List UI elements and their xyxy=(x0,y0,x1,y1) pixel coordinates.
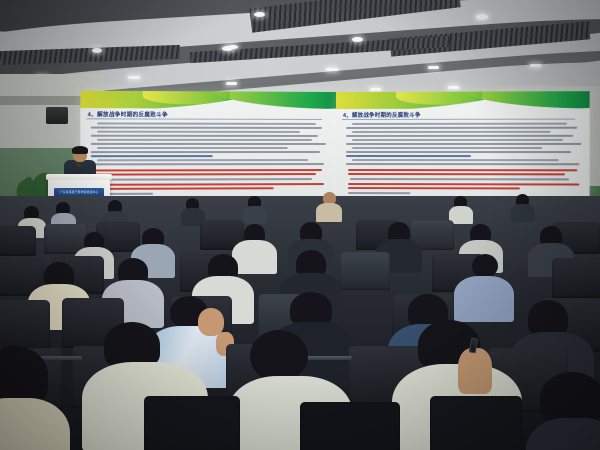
slide-left-body-line xyxy=(97,159,308,161)
slide-left-body-line xyxy=(91,135,318,137)
attendee-torso xyxy=(243,206,267,224)
downlight-14 xyxy=(448,86,459,89)
slide-right-body-line xyxy=(346,135,573,137)
auditorium-seat[interactable] xyxy=(144,396,240,450)
slide-right-body-line xyxy=(346,143,581,145)
slide-left-highlight-line xyxy=(93,169,322,171)
attendee-torso xyxy=(511,204,535,222)
presenter-hair xyxy=(72,146,88,154)
slide-right-highlight-line xyxy=(348,169,577,171)
slide-left-body-line xyxy=(97,147,288,149)
slide-left-highlight-line xyxy=(93,173,316,176)
slide-left-body-line xyxy=(91,143,326,145)
downlight-11 xyxy=(128,76,140,79)
slide-right-body-line xyxy=(346,151,571,153)
downlight-12 xyxy=(226,82,237,85)
attendee-hair-bun xyxy=(250,330,308,382)
slide-left-highlight-line xyxy=(93,187,274,190)
downlight-1 xyxy=(254,12,265,17)
attendee-hair xyxy=(528,300,568,336)
auditorium-seat[interactable] xyxy=(430,396,522,450)
attendee-torso xyxy=(316,203,342,222)
downlight-6 xyxy=(326,68,338,71)
downlight-3 xyxy=(352,37,363,42)
projected-slide-right: 4、解放战争时期的反腐败斗争 xyxy=(336,91,590,205)
slide-right-highlight-line xyxy=(348,173,565,175)
attendee-torso xyxy=(232,240,277,274)
slide-left-body-line xyxy=(91,127,322,129)
auditorium-seat[interactable] xyxy=(340,252,390,290)
downlight-9 xyxy=(228,45,238,49)
slide-right-title-rule xyxy=(342,119,575,120)
slide-left-title: 4、解放战争时期的反腐败斗争 xyxy=(88,110,168,118)
downlight-2 xyxy=(476,14,488,20)
slide-left-body-line xyxy=(95,178,312,180)
seat-armrest xyxy=(40,356,82,360)
seat-armrest xyxy=(306,356,352,360)
slide-left-highlight-line xyxy=(93,183,324,186)
auditorium-seat[interactable] xyxy=(0,300,50,350)
slide-left-body-line xyxy=(97,122,316,124)
slide-left-title-rule xyxy=(87,118,322,120)
audience-seating: ROCK MUSIC AND CATS all i need are frien… xyxy=(0,196,600,450)
auditorium-seat[interactable] xyxy=(0,226,36,256)
wall-speaker xyxy=(46,107,68,124)
downlight-5 xyxy=(92,48,102,53)
auditorium-seat[interactable] xyxy=(552,258,600,298)
attendee-torso xyxy=(454,276,514,322)
slide-right-body-line xyxy=(352,123,567,125)
downlight-8 xyxy=(530,64,541,67)
attendee-hair-bun xyxy=(472,254,498,278)
slide-right-highlight-line xyxy=(348,183,579,185)
attendee-arm xyxy=(458,348,492,394)
slide-banner-left xyxy=(80,91,336,109)
slide-right-body-line xyxy=(350,178,569,180)
slide-right-title: 4、解放战争时期的反腐败斗争 xyxy=(343,111,421,119)
slide-right-body-line xyxy=(346,163,579,165)
slide-left-body-line xyxy=(91,151,320,153)
slide-right-highlight-line xyxy=(348,187,520,189)
slide-left-body-line xyxy=(91,155,213,157)
slide-right-body-line xyxy=(352,139,563,141)
slide-right-body-line xyxy=(346,127,577,129)
projection-screen-pair: 4、解放战争时期的反腐败斗争 xyxy=(86,92,586,204)
downlight-7 xyxy=(428,66,439,69)
lecture-hall-photo: 4、解放战争时期的反腐败斗争 xyxy=(0,0,600,450)
attendee-torso xyxy=(526,418,600,450)
slide-left-body-line xyxy=(97,131,300,133)
slide-left-body-line xyxy=(97,139,312,141)
slide-right-body-line xyxy=(352,131,551,133)
podium-top xyxy=(46,174,112,180)
slide-right-body-line xyxy=(352,147,542,149)
slide-left-body-line xyxy=(91,163,324,165)
microphone-icon xyxy=(78,165,80,173)
slide-right-body-line xyxy=(346,155,471,157)
slide-right-body-line xyxy=(348,192,410,194)
attendee-hair xyxy=(290,292,332,326)
slide-banner-right xyxy=(336,91,590,109)
projected-slide-left: 4、解放战争时期的反腐败斗争 xyxy=(80,91,336,206)
attendee-hair xyxy=(540,372,600,424)
downlight-13 xyxy=(370,88,381,91)
slide-right-body-line xyxy=(352,159,559,161)
auditorium-seat[interactable] xyxy=(300,402,400,450)
